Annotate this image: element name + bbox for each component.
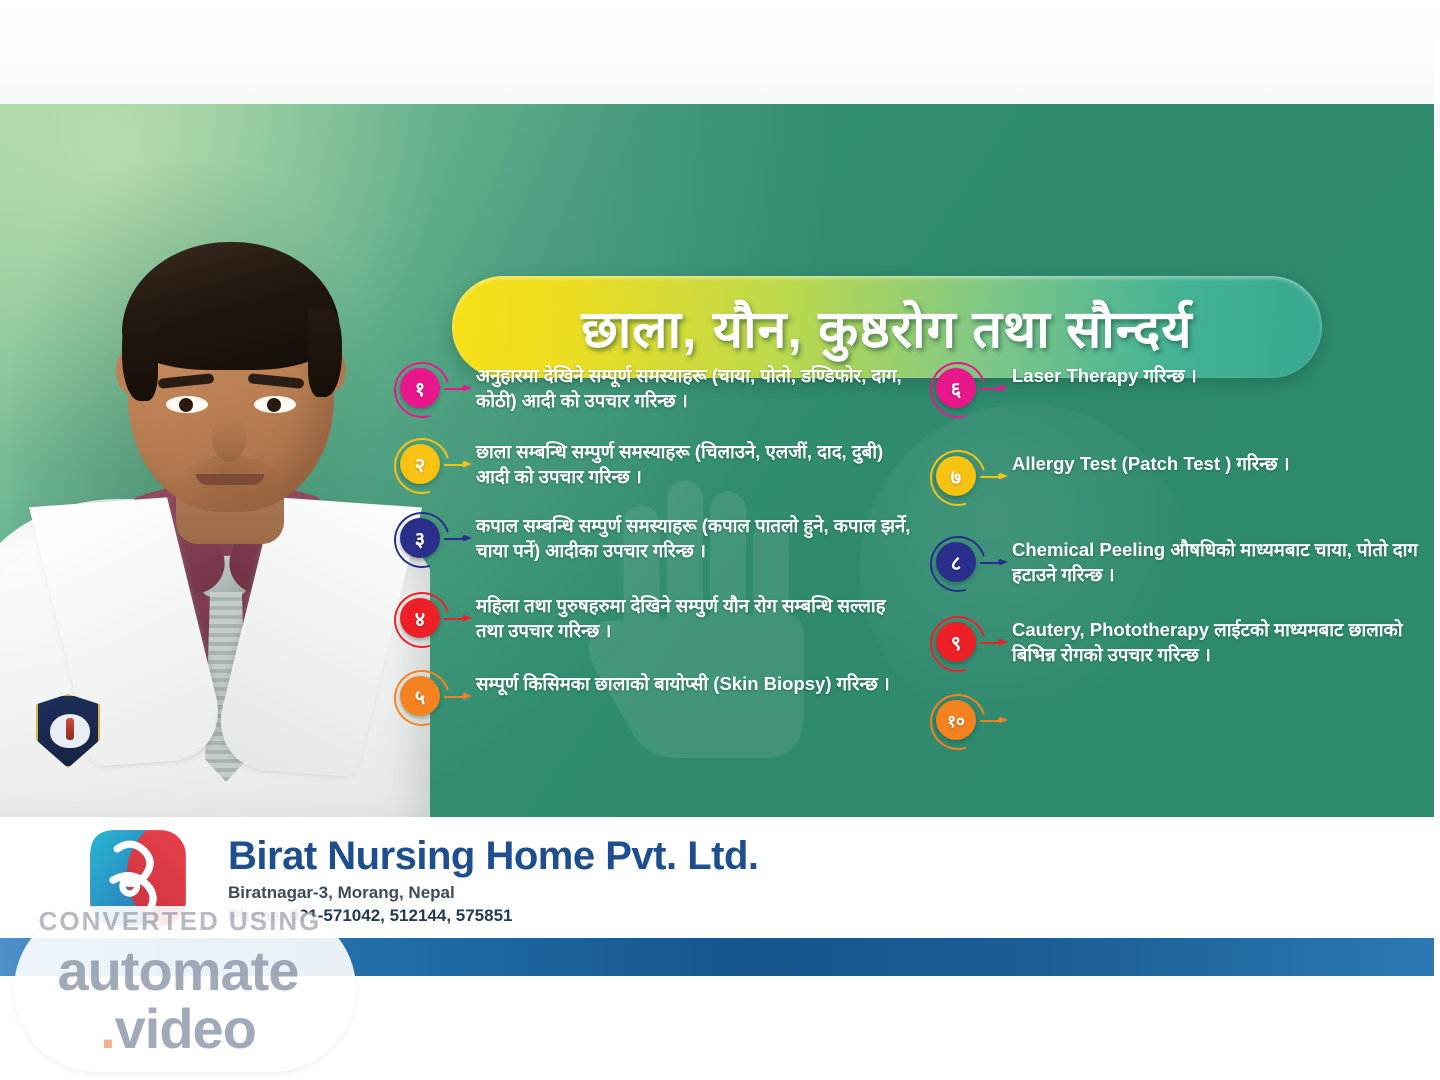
page-title: छाला, यौन, कुष्ठरोग तथा सौन्दर्य — [581, 292, 1192, 363]
service-number-badge: ७ — [928, 452, 1012, 510]
service-item: ७Allergy Test (Patch Test ) गरिन्छ । — [928, 450, 1433, 510]
service-number-badge: २ — [392, 440, 476, 498]
right-edge-strip — [1434, 0, 1440, 1080]
service-text: छाला सम्बन्धि सम्पुर्ण समस्याहरू (चिलाउन… — [476, 438, 912, 490]
service-item: ९Cautery, Phototherapy लाईटको माध्यमबाट … — [928, 616, 1433, 676]
service-item: ४महिला तथा पुरुषहरुमा देखिने सम्पुर्ण यौ… — [392, 592, 912, 652]
service-item: ३कपाल सम्बन्धि सम्पुर्ण समस्याहरू (कपाल … — [392, 512, 912, 572]
service-item: ६Laser Therapy गरिन्छ । — [928, 362, 1433, 422]
top-letterbox — [0, 0, 1440, 104]
service-item: १अनुहारमा देखिने सम्पूर्ण समस्याहरू (चाय… — [392, 362, 912, 422]
service-item: १० — [928, 694, 1433, 754]
badge-number: ८ — [936, 542, 976, 582]
arrow-icon — [444, 534, 472, 543]
badge-number: ९ — [936, 622, 976, 662]
badge-number: ४ — [400, 598, 440, 638]
watermark-video-text: video — [115, 997, 256, 1060]
doctor-photo — [0, 104, 430, 817]
service-number-badge: ८ — [928, 538, 1012, 596]
arrow-icon — [444, 692, 472, 701]
arrow-icon — [444, 614, 472, 623]
service-number-badge: ९ — [928, 618, 1012, 676]
arrow-icon — [980, 472, 1008, 481]
badge-number: ३ — [400, 518, 440, 558]
service-text: कपाल सम्बन्धि सम्पुर्ण समस्याहरू (कपाल प… — [476, 512, 912, 564]
badge-number: ६ — [936, 368, 976, 408]
service-text: Laser Therapy गरिन्छ । — [1012, 362, 1197, 389]
badge-number: १ — [400, 368, 440, 408]
service-text: महिला तथा पुरुषहरुमा देखिने सम्पुर्ण यौन… — [476, 592, 912, 644]
service-item: ८Chemical Peeling औषधिको माध्यमबाट चाया,… — [928, 536, 1433, 596]
services-right-column: ६Laser Therapy गरिन्छ ।७Allergy Test (Pa… — [928, 362, 1433, 754]
poster-canvas: छाला, यौन, कुष्ठरोग तथा सौन्दर्य १अनुहार… — [0, 0, 1440, 1080]
service-number-badge: ५ — [392, 672, 476, 730]
badge-number: १० — [936, 700, 976, 740]
watermark-dot: . — [100, 997, 115, 1060]
service-number-badge: ३ — [392, 514, 476, 572]
service-number-badge: ४ — [392, 594, 476, 652]
service-number-badge: १० — [928, 696, 1012, 754]
watermark-video-label: .video — [0, 996, 356, 1061]
service-number-badge: ६ — [928, 364, 1012, 422]
badge-number: ५ — [400, 676, 440, 716]
arrow-icon — [980, 558, 1008, 567]
arrow-icon — [444, 384, 472, 393]
clinic-name: Birat Nursing Home Pvt. Ltd. — [228, 835, 759, 878]
service-item: ५सम्पूर्ण किसिमका छालाको बायोप्सी (Skin … — [392, 670, 912, 730]
badge-number: २ — [400, 444, 440, 484]
service-text: अनुहारमा देखिने सम्पूर्ण समस्याहरू (चाया… — [476, 362, 912, 414]
service-number-badge: १ — [392, 364, 476, 422]
poster-body: छाला, यौन, कुष्ठरोग तथा सौन्दर्य १अनुहार… — [0, 104, 1440, 817]
arrow-icon — [980, 716, 1008, 725]
service-text: Allergy Test (Patch Test ) गरिन्छ । — [1012, 450, 1290, 477]
service-text: सम्पूर्ण किसिमका छालाको बायोप्सी (Skin B… — [476, 670, 890, 697]
service-item: २छाला सम्बन्धि सम्पुर्ण समस्याहरू (चिलाउ… — [392, 438, 912, 498]
arrow-icon — [980, 384, 1008, 393]
services-left-column: १अनुहारमा देखिने सम्पूर्ण समस्याहरू (चाय… — [392, 362, 912, 730]
clinic-address: Biratnagar-3, Morang, Nepal — [228, 883, 759, 903]
badge-number: ७ — [936, 456, 976, 496]
watermark-automate-label: automate — [0, 938, 356, 1003]
arrow-icon — [444, 460, 472, 469]
service-text: Cautery, Phototherapy लाईटको माध्यमबाट छ… — [1012, 616, 1433, 668]
arrow-icon — [980, 638, 1008, 647]
service-text: Chemical Peeling औषधिको माध्यमबाट चाया, … — [1012, 536, 1433, 588]
watermark-converted-label: CONVERTED USING — [0, 906, 360, 937]
